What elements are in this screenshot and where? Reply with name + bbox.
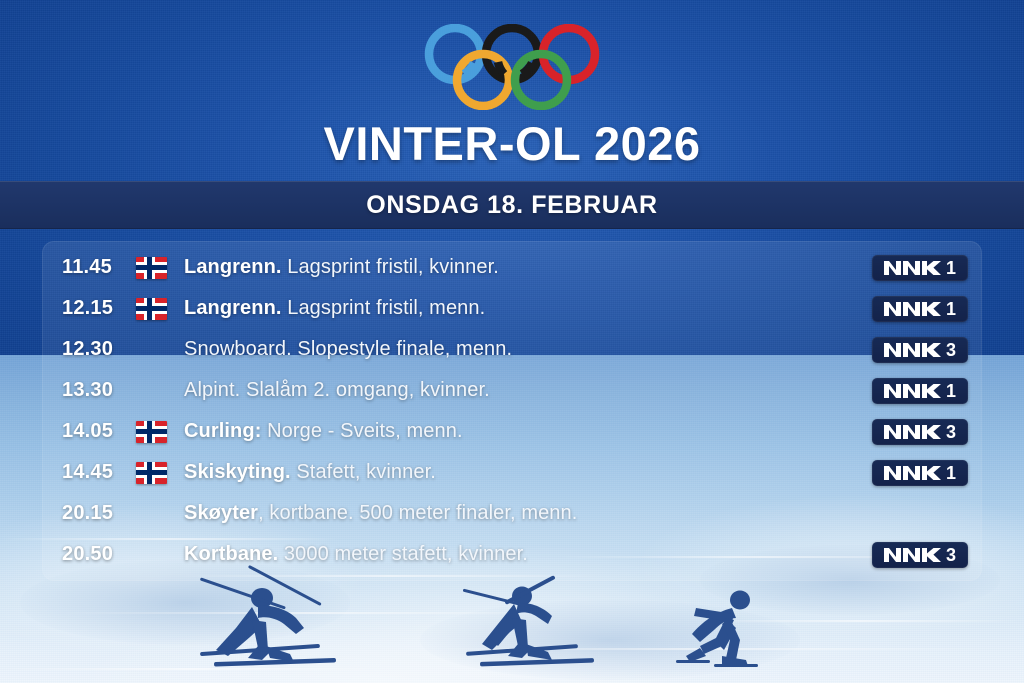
event-time: 14.05: [62, 420, 136, 443]
event-detail: Lagsprint fristil, kvinner.: [282, 256, 499, 278]
norway-flag-icon: [136, 298, 167, 320]
channel-cell: 1: [858, 460, 968, 486]
event-detail: Alpint. Slalåm 2. omgang, kvinner.: [184, 379, 490, 401]
nrk-channel-badge[interactable]: 1: [872, 296, 968, 322]
nrk-channel-number: 3: [946, 341, 956, 359]
flag-cell: [136, 462, 184, 484]
schedule-row: 14.45Skiskyting. Stafett, kvinner.1: [42, 452, 982, 493]
nrk-channel-badge[interactable]: 3: [872, 419, 968, 445]
event-description: Langrenn. Lagsprint fristil, menn.: [184, 297, 858, 320]
date-banner: ONSDAG 18. FEBRUAR: [0, 181, 1024, 229]
norway-flag-icon: [136, 257, 167, 279]
event-time: 20.50: [62, 543, 136, 566]
event-detail: , kortbane. 500 meter finaler, menn.: [258, 502, 577, 524]
event-detail: Snowboard. Slopestyle finale, menn.: [184, 338, 512, 360]
event-time: 20.15: [62, 502, 136, 525]
channel-cell: 1: [858, 296, 968, 322]
channel-cell: 1: [858, 255, 968, 281]
event-time: 12.15: [62, 297, 136, 320]
flag-cell: [136, 257, 184, 279]
channel-cell: 3: [858, 337, 968, 363]
event-detail: Stafett, kvinner.: [291, 461, 436, 483]
flag-cell: [136, 421, 184, 443]
schedule-row: 20.50Kortbane. 3000 meter stafett, kvinn…: [42, 534, 982, 575]
event-sport: Langrenn.: [184, 256, 282, 278]
nrk-channel-number: 1: [946, 300, 956, 318]
event-description: Curling: Norge - Sveits, menn.: [184, 420, 858, 443]
event-detail: Lagsprint fristil, menn.: [282, 297, 486, 319]
schedule-row: 12.15Langrenn. Lagsprint fristil, menn.1: [42, 288, 982, 329]
page-title: VINTER-OL 2026: [0, 116, 1024, 171]
event-sport: Langrenn.: [184, 297, 282, 319]
event-description: Alpint. Slalåm 2. omgang, kvinner.: [184, 379, 858, 402]
event-detail: 3000 meter stafett, kvinner.: [278, 543, 528, 565]
event-detail: Norge - Sveits, menn.: [261, 420, 462, 442]
schedule-panel: 11.45Langrenn. Lagsprint fristil, kvinne…: [42, 241, 982, 581]
channel-cell: 3: [858, 419, 968, 445]
event-sport: Curling:: [184, 420, 261, 442]
norway-flag-icon: [136, 462, 167, 484]
event-time: 14.45: [62, 461, 136, 484]
norway-flag-icon: [136, 421, 167, 443]
nrk-channel-badge[interactable]: 3: [872, 542, 968, 568]
flag-cell: [136, 298, 184, 320]
event-time: 11.45: [62, 256, 136, 279]
nrk-channel-number: 1: [946, 259, 956, 277]
event-sport: Skøyter: [184, 502, 258, 524]
nrk-channel-badge[interactable]: 1: [872, 255, 968, 281]
channel-cell: 3: [858, 542, 968, 568]
olympic-rings-icon: [424, 24, 600, 115]
event-description: Langrenn. Lagsprint fristil, kvinner.: [184, 256, 858, 279]
schedule-row: 20.15Skøyter, kortbane. 500 meter finale…: [42, 493, 982, 534]
nrk-channel-number: 3: [946, 423, 956, 441]
channel-cell: 1: [858, 378, 968, 404]
event-description: Snowboard. Slopestyle finale, menn.: [184, 338, 858, 361]
date-banner-text: ONSDAG 18. FEBRUAR: [366, 191, 657, 220]
event-description: Skøyter, kortbane. 500 meter finaler, me…: [184, 502, 858, 525]
nrk-channel-number: 1: [946, 382, 956, 400]
schedule-row: 11.45Langrenn. Lagsprint fristil, kvinne…: [42, 247, 982, 288]
event-time: 12.30: [62, 338, 136, 361]
schedule-row: 14.05Curling: Norge - Sveits, menn.3: [42, 411, 982, 452]
schedule-row: 13.30Alpint. Slalåm 2. omgang, kvinner.1: [42, 370, 982, 411]
schedule-row: 12.30Snowboard. Slopestyle finale, menn.…: [42, 329, 982, 370]
nrk-channel-number: 1: [946, 464, 956, 482]
event-sport: Skiskyting.: [184, 461, 291, 483]
nrk-channel-badge[interactable]: 1: [872, 460, 968, 486]
schedule-list: 11.45Langrenn. Lagsprint fristil, kvinne…: [42, 241, 982, 575]
event-description: Skiskyting. Stafett, kvinner.: [184, 461, 858, 484]
event-time: 13.30: [62, 379, 136, 402]
nrk-channel-badge[interactable]: 1: [872, 378, 968, 404]
nrk-channel-badge[interactable]: 3: [872, 337, 968, 363]
event-description: Kortbane. 3000 meter stafett, kvinner.: [184, 543, 858, 566]
nrk-channel-number: 3: [946, 546, 956, 564]
event-sport: Kortbane.: [184, 543, 278, 565]
